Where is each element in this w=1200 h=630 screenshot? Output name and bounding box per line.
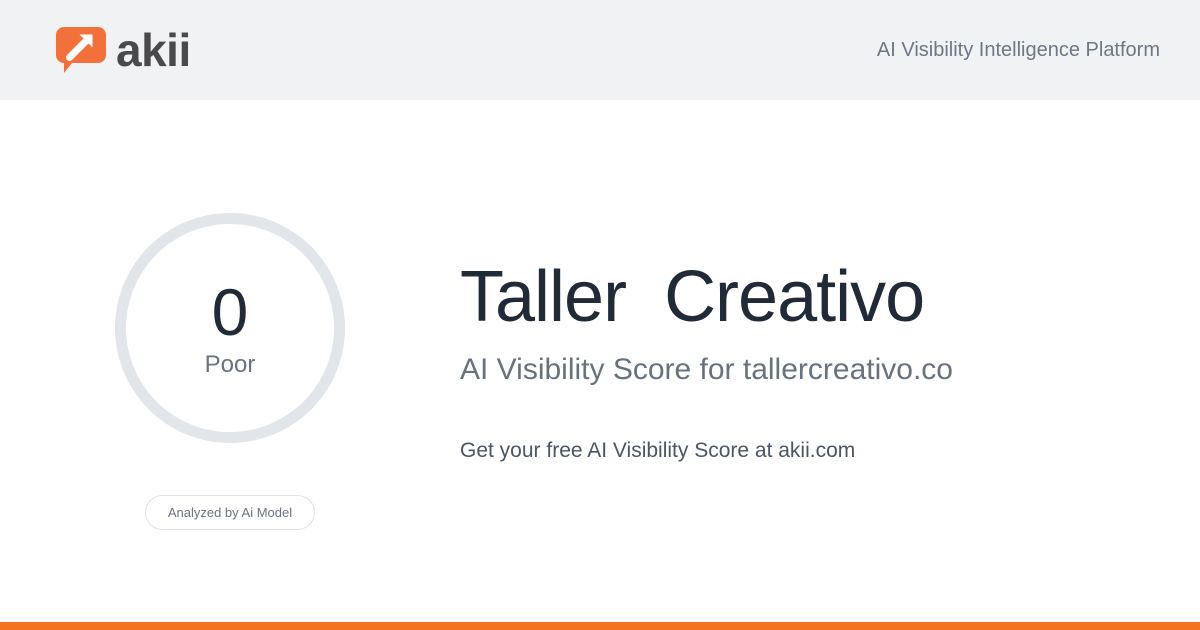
main-content: 0 Poor Analyzed by Ai Model Taller Creat…	[0, 100, 1200, 622]
akii-speech-bubble-arrow-icon	[56, 25, 106, 75]
score-gauge: 0 Poor	[115, 213, 345, 443]
info-column: Taller Creativo AI Visibility Score for …	[460, 100, 1200, 463]
page-header: akii AI Visibility Intelligence Platform	[0, 0, 1200, 100]
cta-text: Get your free AI Visibility Score at aki…	[460, 438, 1160, 463]
header-tagline: AI Visibility Intelligence Platform	[877, 39, 1160, 62]
page-subtitle: AI Visibility Score for tallercreativo.c…	[460, 352, 1160, 388]
page-title: Taller Creativo	[460, 260, 1160, 336]
analyzed-by-badge: Analyzed by Ai Model	[145, 495, 315, 530]
footer-accent-bar	[0, 622, 1200, 630]
score-column: 0 Poor Analyzed by Ai Model	[0, 100, 460, 530]
score-value: 0	[212, 279, 249, 345]
score-rating-label: Poor	[205, 353, 256, 377]
brand-name: akii	[116, 27, 191, 73]
brand-logo[interactable]: akii	[56, 25, 191, 75]
